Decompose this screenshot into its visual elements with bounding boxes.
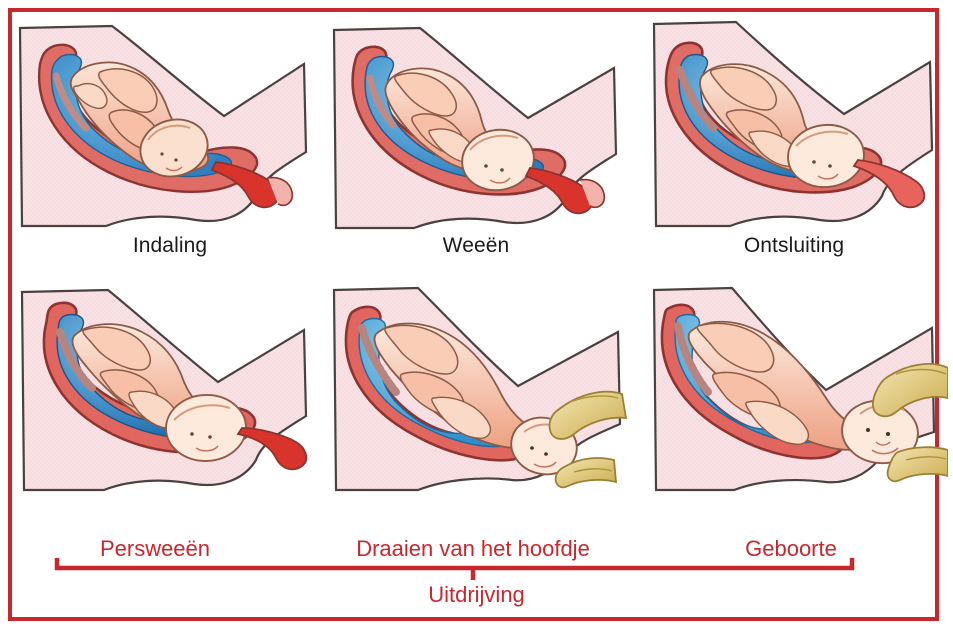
illustration-fetus-engaged-in-pelvis	[16, 20, 324, 235]
panel-caption-indaling: Indaling	[16, 234, 324, 258]
panel-geboorte	[640, 282, 948, 532]
panel-grid: Indaling	[14, 14, 939, 534]
panel-weeen: Weeën	[322, 20, 630, 270]
illustration-fetus-cervix-dilated	[640, 20, 948, 235]
illustration-fetus-contractions	[322, 20, 630, 235]
panel-ontsluiting: Ontsluiting	[640, 20, 948, 270]
grouping-bracket	[0, 556, 953, 582]
illustration-fetus-head-rotating-hands	[322, 282, 630, 497]
birth-stages-figure: Indaling	[0, 0, 953, 634]
illustration-newborn-delivered-hands	[640, 282, 948, 497]
panel-caption-ontsluiting: Ontsluiting	[640, 234, 948, 258]
panel-persweeen	[16, 282, 324, 532]
group-label-uitdrijving: Uitdrijving	[0, 582, 953, 608]
illustration-fetus-pushing	[16, 282, 324, 497]
panel-draaien	[322, 282, 630, 532]
panel-caption-weeen: Weeën	[322, 234, 630, 258]
panel-indaling: Indaling	[16, 20, 324, 270]
